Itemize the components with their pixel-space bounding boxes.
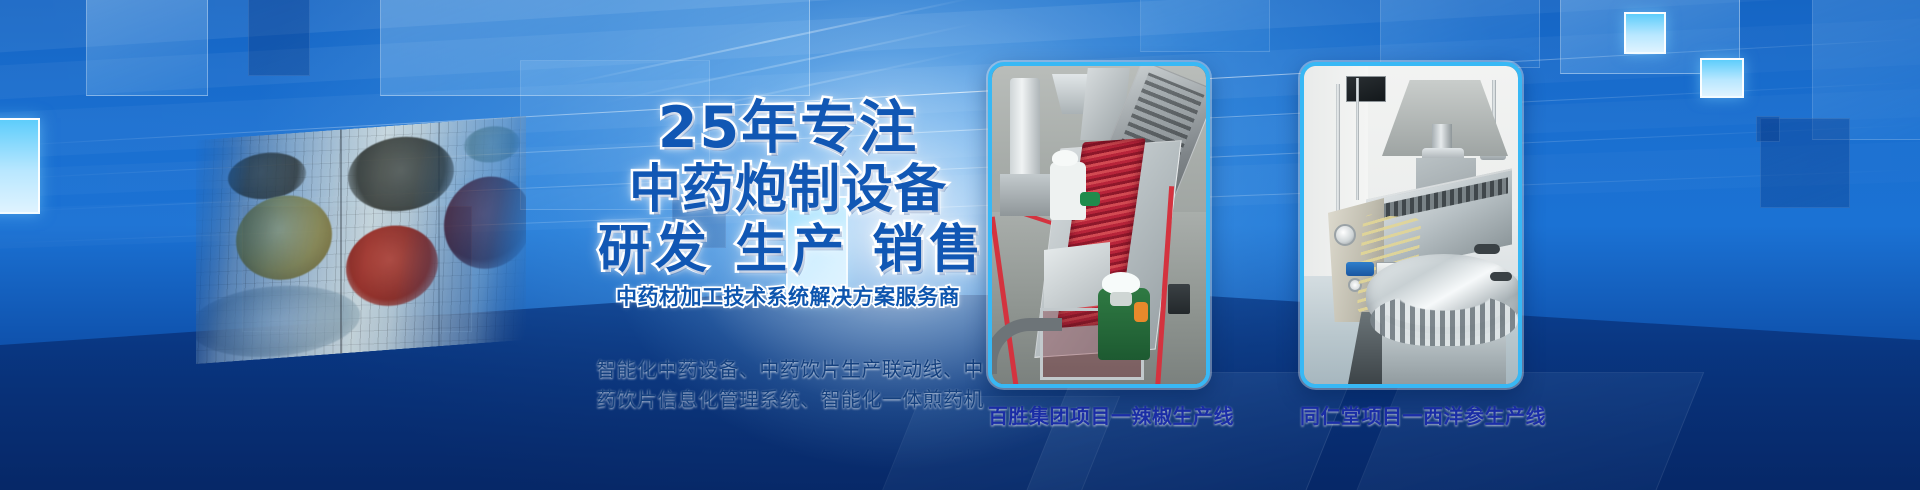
background-block [1380, 0, 1540, 68]
description-line-2: 药饮片信息化管理系统、智能化一体煎药机 [570, 385, 1010, 415]
background-slash [564, 0, 975, 86]
project-photo-card-2[interactable]: 同仁堂项目一西洋参生产线 [1300, 62, 1546, 429]
worker-1-cap [1052, 150, 1078, 166]
background-block [1756, 116, 1780, 142]
lid-clamp-ring [1370, 294, 1518, 346]
support-rod [1336, 84, 1340, 222]
background-slash [604, 23, 976, 104]
photo-caption-2: 同仁堂项目一西洋参生产线 [1300, 400, 1546, 429]
description-line-1: 智能化中药设备、中药饮片生产联动线、中 [570, 355, 1010, 385]
hand-wheel [1490, 272, 1512, 281]
equipment-column [1010, 78, 1040, 178]
ginseng-production-line-image [1304, 66, 1518, 384]
worker-1-glove [1080, 192, 1100, 206]
photo-frame-1 [988, 62, 1210, 388]
headline-group: 25年专注 中药炮制设备 研发 生产 销售 中药材加工技术系统解决方案服务商 [598, 100, 978, 309]
headline-line-1: 25年专注 [598, 100, 978, 157]
headline-line-2: 中药炮制设备 [598, 164, 978, 216]
background-block-highlight [0, 118, 40, 214]
waste-bin [1168, 284, 1190, 314]
background-block [1812, 0, 1920, 140]
equipment-base [1000, 174, 1054, 216]
worker-2-tool [1134, 302, 1148, 322]
hand-wheel [1474, 244, 1500, 254]
support-rod [1356, 78, 1359, 200]
headline-subtitle: 中药材加工技术系统解决方案服务商 [598, 286, 978, 309]
promo-banner: 25年专注 中药炮制设备 研发 生产 销售 中药材加工技术系统解决方案服务商 智… [0, 0, 1920, 490]
background-block [248, 0, 310, 76]
background-band [0, 0, 1920, 108]
chili-production-line-image [992, 66, 1206, 384]
control-panel [1346, 76, 1386, 102]
photo-caption-1: 百胜集团项目一辣椒生产线 [988, 400, 1234, 429]
background-block-highlight [1624, 12, 1666, 54]
blue-component [1346, 262, 1374, 276]
worker-2-cap [1102, 272, 1140, 294]
background-block [1560, 0, 1740, 74]
worker-1-body [1050, 162, 1086, 220]
background-block [86, 0, 208, 96]
blue-tint-overlay [196, 116, 526, 364]
headline-line-3: 研发 生产 销售 [598, 224, 978, 276]
project-photo-card-1[interactable]: 百胜集团项目一辣椒生产线 [988, 62, 1234, 429]
worker-2-mask [1110, 292, 1132, 306]
background-block [380, 0, 810, 96]
pressure-gauge [1334, 224, 1356, 246]
description-text: 智能化中药设备、中药饮片生产联动线、中 药饮片信息化管理系统、智能化一体煎药机 [570, 355, 1010, 414]
background-block [1760, 118, 1850, 208]
herbs-photo [196, 116, 526, 364]
photo-frame-2 [1300, 62, 1522, 388]
background-band [0, 0, 1920, 62]
background-block-highlight [1700, 58, 1744, 98]
background-block [1140, 0, 1270, 52]
